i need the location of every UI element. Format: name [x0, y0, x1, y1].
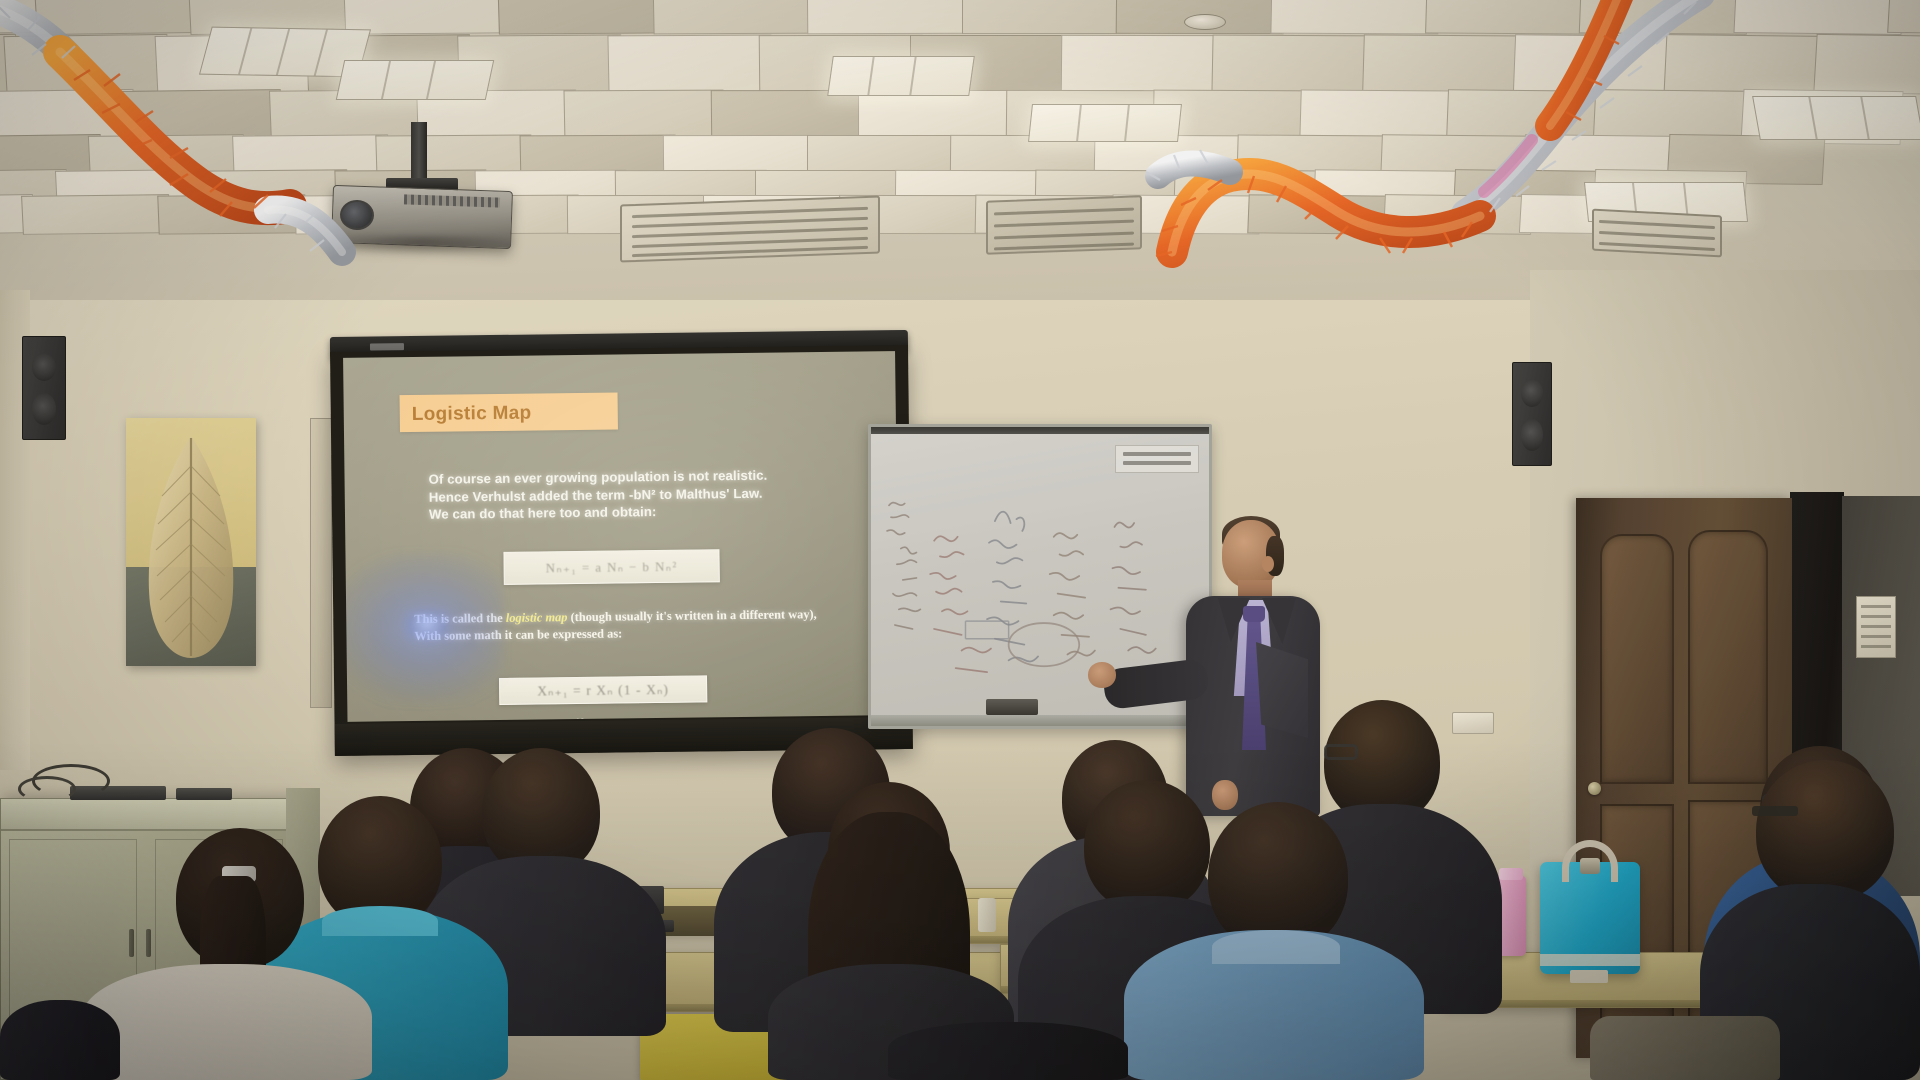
collar	[1212, 930, 1340, 964]
cable-loop	[18, 776, 76, 802]
projected-slide: Logistic Map Of course an ever growing p…	[343, 351, 899, 722]
water-bottle-on-desk	[978, 898, 996, 932]
eyeglasses-temple	[1752, 806, 1798, 816]
equation-box-secondary: Xₙ₊₁ = r Xₙ (1 - Xₙ)	[499, 675, 707, 705]
ceiling-tile	[1362, 34, 1528, 94]
ceiling-tile	[33, 0, 205, 35]
projector-shadow	[326, 236, 516, 254]
ceiling-tile	[1383, 194, 1533, 235]
slide-body-line: We can do that here too and obtain:	[429, 501, 849, 524]
ceiling-tile	[1061, 35, 1226, 94]
presenter-ear	[1262, 556, 1274, 572]
slide-note-text: This is called the logistic map (though …	[414, 606, 824, 644]
equation-box-primary: Nₙ₊₁ = a Nₙ − b Nₙ²	[503, 549, 719, 585]
podium-equipment	[18, 770, 238, 806]
door-knob[interactable]	[1588, 782, 1601, 795]
ceiling-tile	[1211, 35, 1376, 95]
slide-title-band: Logistic Map	[400, 392, 618, 432]
smoke-detector	[1184, 14, 1226, 30]
whiteboard-notice-sign	[1115, 445, 1199, 473]
wall-speaker-right	[1512, 362, 1552, 466]
note-prefix: This is called the	[414, 611, 506, 626]
collar	[322, 906, 438, 936]
light-switch-plate[interactable]	[1452, 712, 1494, 734]
slide-title: Logistic Map	[412, 403, 532, 426]
corridor-notice-sheet	[1856, 596, 1896, 658]
whiteboard-eraser[interactable]	[986, 699, 1038, 715]
turquoise-handbag	[1540, 862, 1640, 974]
presenter-tie-knot	[1243, 606, 1265, 622]
ceiling-tile	[1733, 0, 1904, 35]
note-emphasis: logistic map	[506, 610, 568, 625]
ceiling-light-panel	[1028, 104, 1182, 142]
ceiling-tile	[1425, 0, 1595, 35]
wall-poster-strip	[310, 418, 332, 708]
ceiling-tile	[1513, 34, 1679, 94]
ceiling-tile	[652, 0, 821, 34]
ceiling-tile	[608, 35, 773, 95]
wall-speaker-left	[22, 336, 66, 440]
ceiling-tile	[1663, 34, 1830, 95]
ceiling-tile	[1270, 0, 1439, 34]
ceiling-light-panel	[1752, 96, 1920, 140]
presenter-pointing-hand	[1088, 662, 1116, 688]
whiteboard-marker-tray	[871, 715, 1209, 726]
ceiling-tile	[3, 34, 170, 95]
control-panel[interactable]	[176, 788, 232, 800]
ceiling-light-panel	[827, 56, 975, 96]
framed-leaf-artwork	[126, 418, 256, 666]
equation-secondary: Xₙ₊₁ = r Xₙ (1 - Xₙ)	[500, 681, 706, 700]
eyeglasses	[1324, 744, 1358, 760]
ceiling-tile	[158, 194, 307, 234]
ceiling-tile	[1247, 194, 1396, 234]
lecture-room-photograph: Logistic Map Of course an ever growing p…	[0, 0, 1920, 1080]
presenter-lower-hand	[1212, 780, 1238, 810]
ceiling-light-panel	[336, 60, 495, 100]
ceiling-tile	[497, 0, 667, 35]
projection-screen: Logistic Map Of course an ever growing p…	[330, 345, 913, 756]
equation-primary: Nₙ₊₁ = a Nₙ − b Nₙ²	[505, 558, 719, 577]
hvac-vent	[986, 195, 1142, 254]
hvac-vent	[1592, 209, 1722, 258]
ceiling-tile	[962, 0, 1130, 34]
hvac-vent	[620, 195, 880, 262]
slide-body-text: Of course an ever growing population is …	[428, 466, 849, 524]
ceiling-tile	[807, 0, 976, 34]
ceiling-tile	[1887, 0, 1920, 35]
ceiling-tile	[21, 194, 171, 235]
ceiling-tile	[1579, 0, 1749, 35]
screen-brand-logo	[370, 343, 404, 350]
ceiling-tile	[1814, 34, 1920, 95]
